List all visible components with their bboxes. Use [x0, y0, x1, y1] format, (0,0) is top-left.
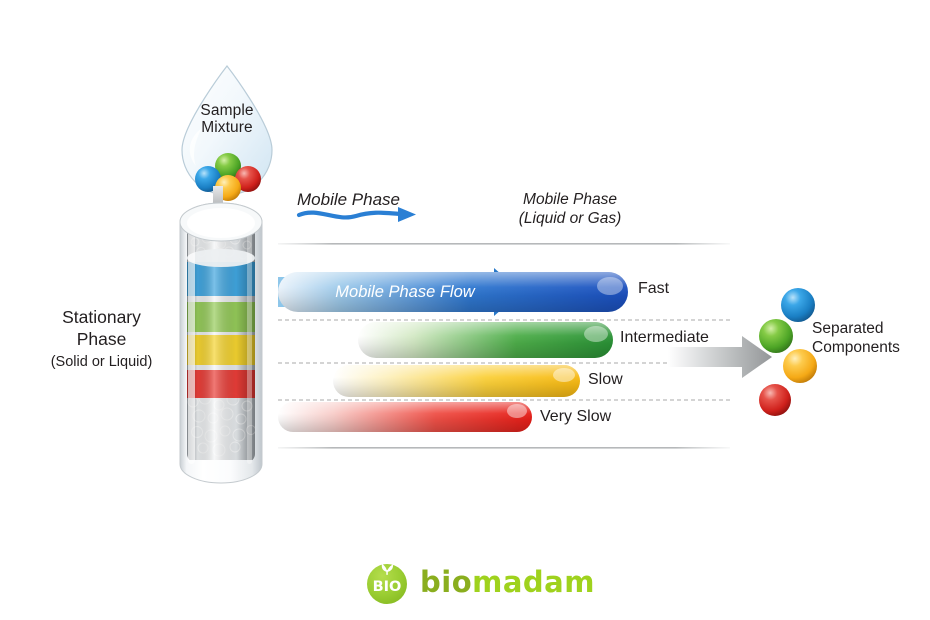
speed-bar-slow	[333, 365, 580, 397]
separated-components-label: Separated Components	[812, 319, 930, 357]
mobile-phase-label: Mobile Phase	[297, 190, 467, 210]
speed-label-slow: Slow	[588, 371, 623, 389]
green-sphere	[759, 319, 793, 353]
bio-badge-text: BIO	[373, 579, 402, 595]
logo-word-madam: madam	[472, 565, 595, 599]
logo-wordmark: biomadam	[420, 565, 595, 599]
sample-mixture-label: Sample Mixture	[168, 102, 286, 136]
speed-label-fast: Fast	[638, 280, 669, 298]
logo-word-bio: bio	[420, 565, 472, 599]
biomadam-logo[interactable]: BIO biomadam	[362, 558, 572, 606]
stationary-phase-label: Stationary Phase (Solid or Liquid)	[14, 306, 189, 373]
red-sphere	[759, 384, 791, 416]
speed-bar-very-slow	[278, 402, 532, 432]
panel-rule-top	[278, 243, 730, 245]
blue-sphere	[781, 288, 815, 322]
speed-bar-intermediate	[358, 322, 613, 358]
panel-rule-bottom	[278, 447, 730, 449]
bio-badge-icon: BIO	[362, 558, 412, 606]
separated-spheres	[759, 288, 817, 416]
mobile-phase-type-label: Mobile Phase (Liquid or Gas)	[460, 190, 680, 228]
speed-label-intermediate: Intermediate	[620, 329, 709, 347]
speed-label-very-slow: Very Slow	[540, 408, 611, 426]
sample-drop: Sample Mixture	[168, 62, 286, 202]
chromatography-diagram: Sample Mixture	[0, 0, 930, 620]
mobile-phase-flow-label: Mobile Phase Flow	[300, 283, 510, 302]
